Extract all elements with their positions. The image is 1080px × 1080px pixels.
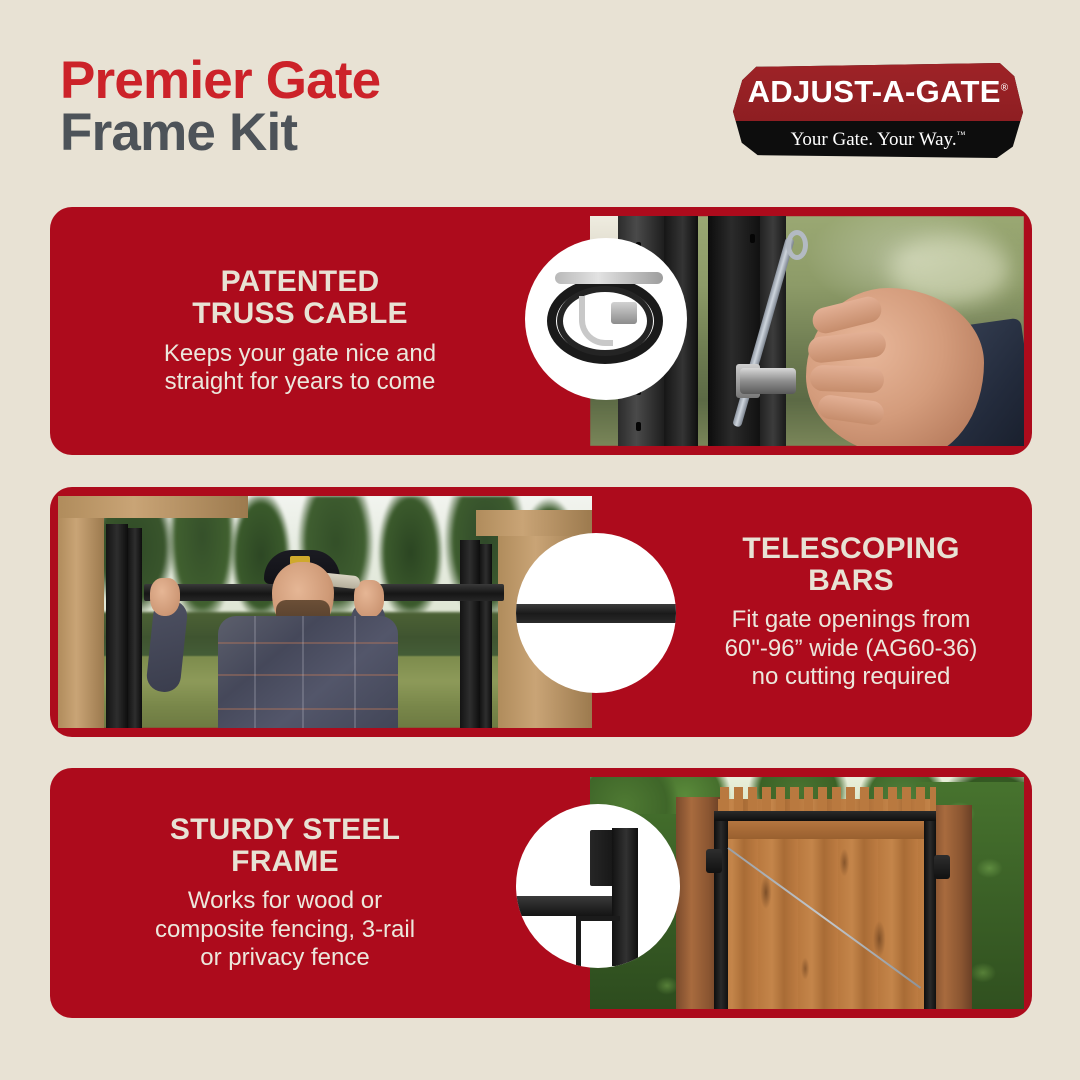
fence-post-right [930, 805, 972, 1009]
wood-beam-left [58, 496, 248, 518]
feature-subtext-1: Keeps your gate nice and straight for ye… [164, 340, 436, 396]
feature-inset-2 [516, 533, 676, 693]
logo-brand-name: ADJUST-A-GATE® [748, 74, 1009, 110]
plaid-stripe [354, 616, 356, 728]
hand-left [150, 578, 180, 616]
trademark-icon: ™ [957, 129, 966, 139]
steel-upright-left-inner [128, 528, 142, 728]
post-hole [750, 234, 755, 243]
wood-beam-right [476, 510, 592, 536]
feature-photo-2 [58, 496, 592, 728]
gate-bolt [740, 368, 796, 394]
logo-tagline: Your Gate. Your Way.™ [791, 129, 966, 151]
post-hole [636, 422, 641, 431]
feature-subtext-2: Fit gate openings from 60"-96” wide (AG6… [725, 606, 978, 690]
title-line-2: Frame Kit [60, 107, 380, 159]
plaid-shirt [218, 616, 398, 728]
finger [810, 365, 885, 394]
feature-text-block-1: PATENTED TRUSS CABLE Keeps your gate nic… [50, 207, 550, 455]
feature-subtext-3: Works for wood or composite fencing, 3-r… [155, 887, 415, 971]
plaid-stripe [218, 642, 398, 644]
gate-post-main [708, 216, 760, 446]
plaid-stripe [218, 674, 398, 676]
hinge-left [706, 849, 722, 873]
steel-frame-left [714, 811, 728, 1009]
feature-panel-sturdy-steel-frame: STURDY STEEL FRAME Works for wood or com… [50, 768, 1032, 1018]
steel-upright-right-inner [480, 544, 492, 728]
feature-inset-1 [525, 238, 687, 400]
steel-frame-top [714, 811, 936, 821]
plaid-stripe [254, 616, 256, 728]
page-title: Premier Gate Frame Kit [60, 55, 380, 159]
plaid-stripe [218, 708, 398, 710]
picket-tops [718, 787, 936, 811]
frame-corner-icon [576, 916, 620, 968]
brand-logo: ADJUST-A-GATE® Your Gate. Your Way.™ [733, 63, 1023, 158]
logo-black-section: Your Gate. Your Way.™ [733, 121, 1023, 158]
registered-trademark-icon: ® [1001, 83, 1009, 94]
feature-heading-2: TELESCOPING BARS [742, 533, 959, 597]
feature-text-block-3: STURDY STEEL FRAME Works for wood or com… [50, 768, 520, 1018]
plaid-stripe [302, 616, 304, 728]
turnbuckle-icon [555, 272, 663, 284]
steel-upright-right [460, 540, 480, 728]
feature-text-block-2: TELESCOPING BARS Fit gate openings from … [670, 487, 1032, 737]
steel-frame-right [924, 811, 936, 1009]
cable-eye-top [786, 230, 808, 260]
feature-heading-1: PATENTED TRUSS CABLE [192, 266, 408, 330]
hinge-right [934, 855, 950, 879]
cable-clamp-icon [611, 302, 637, 324]
steel-upright-left [106, 524, 128, 728]
feature-panel-telescoping-bars: TELESCOPING BARS Fit gate openings from … [50, 487, 1032, 737]
title-line-1: Premier Gate [60, 55, 380, 107]
feature-inset-3 [516, 804, 680, 968]
feature-heading-3: STURDY STEEL FRAME [170, 814, 400, 878]
header: Premier Gate Frame Kit ADJUST-A-GATE® Yo… [0, 0, 1080, 200]
telescoping-bar-detail-icon [516, 604, 676, 623]
logo-red-section: ADJUST-A-GATE® [733, 63, 1023, 121]
feature-panel-patented-truss-cable: PATENTED TRUSS CABLE Keeps your gate nic… [50, 207, 1032, 455]
wood-post-left [58, 496, 104, 728]
